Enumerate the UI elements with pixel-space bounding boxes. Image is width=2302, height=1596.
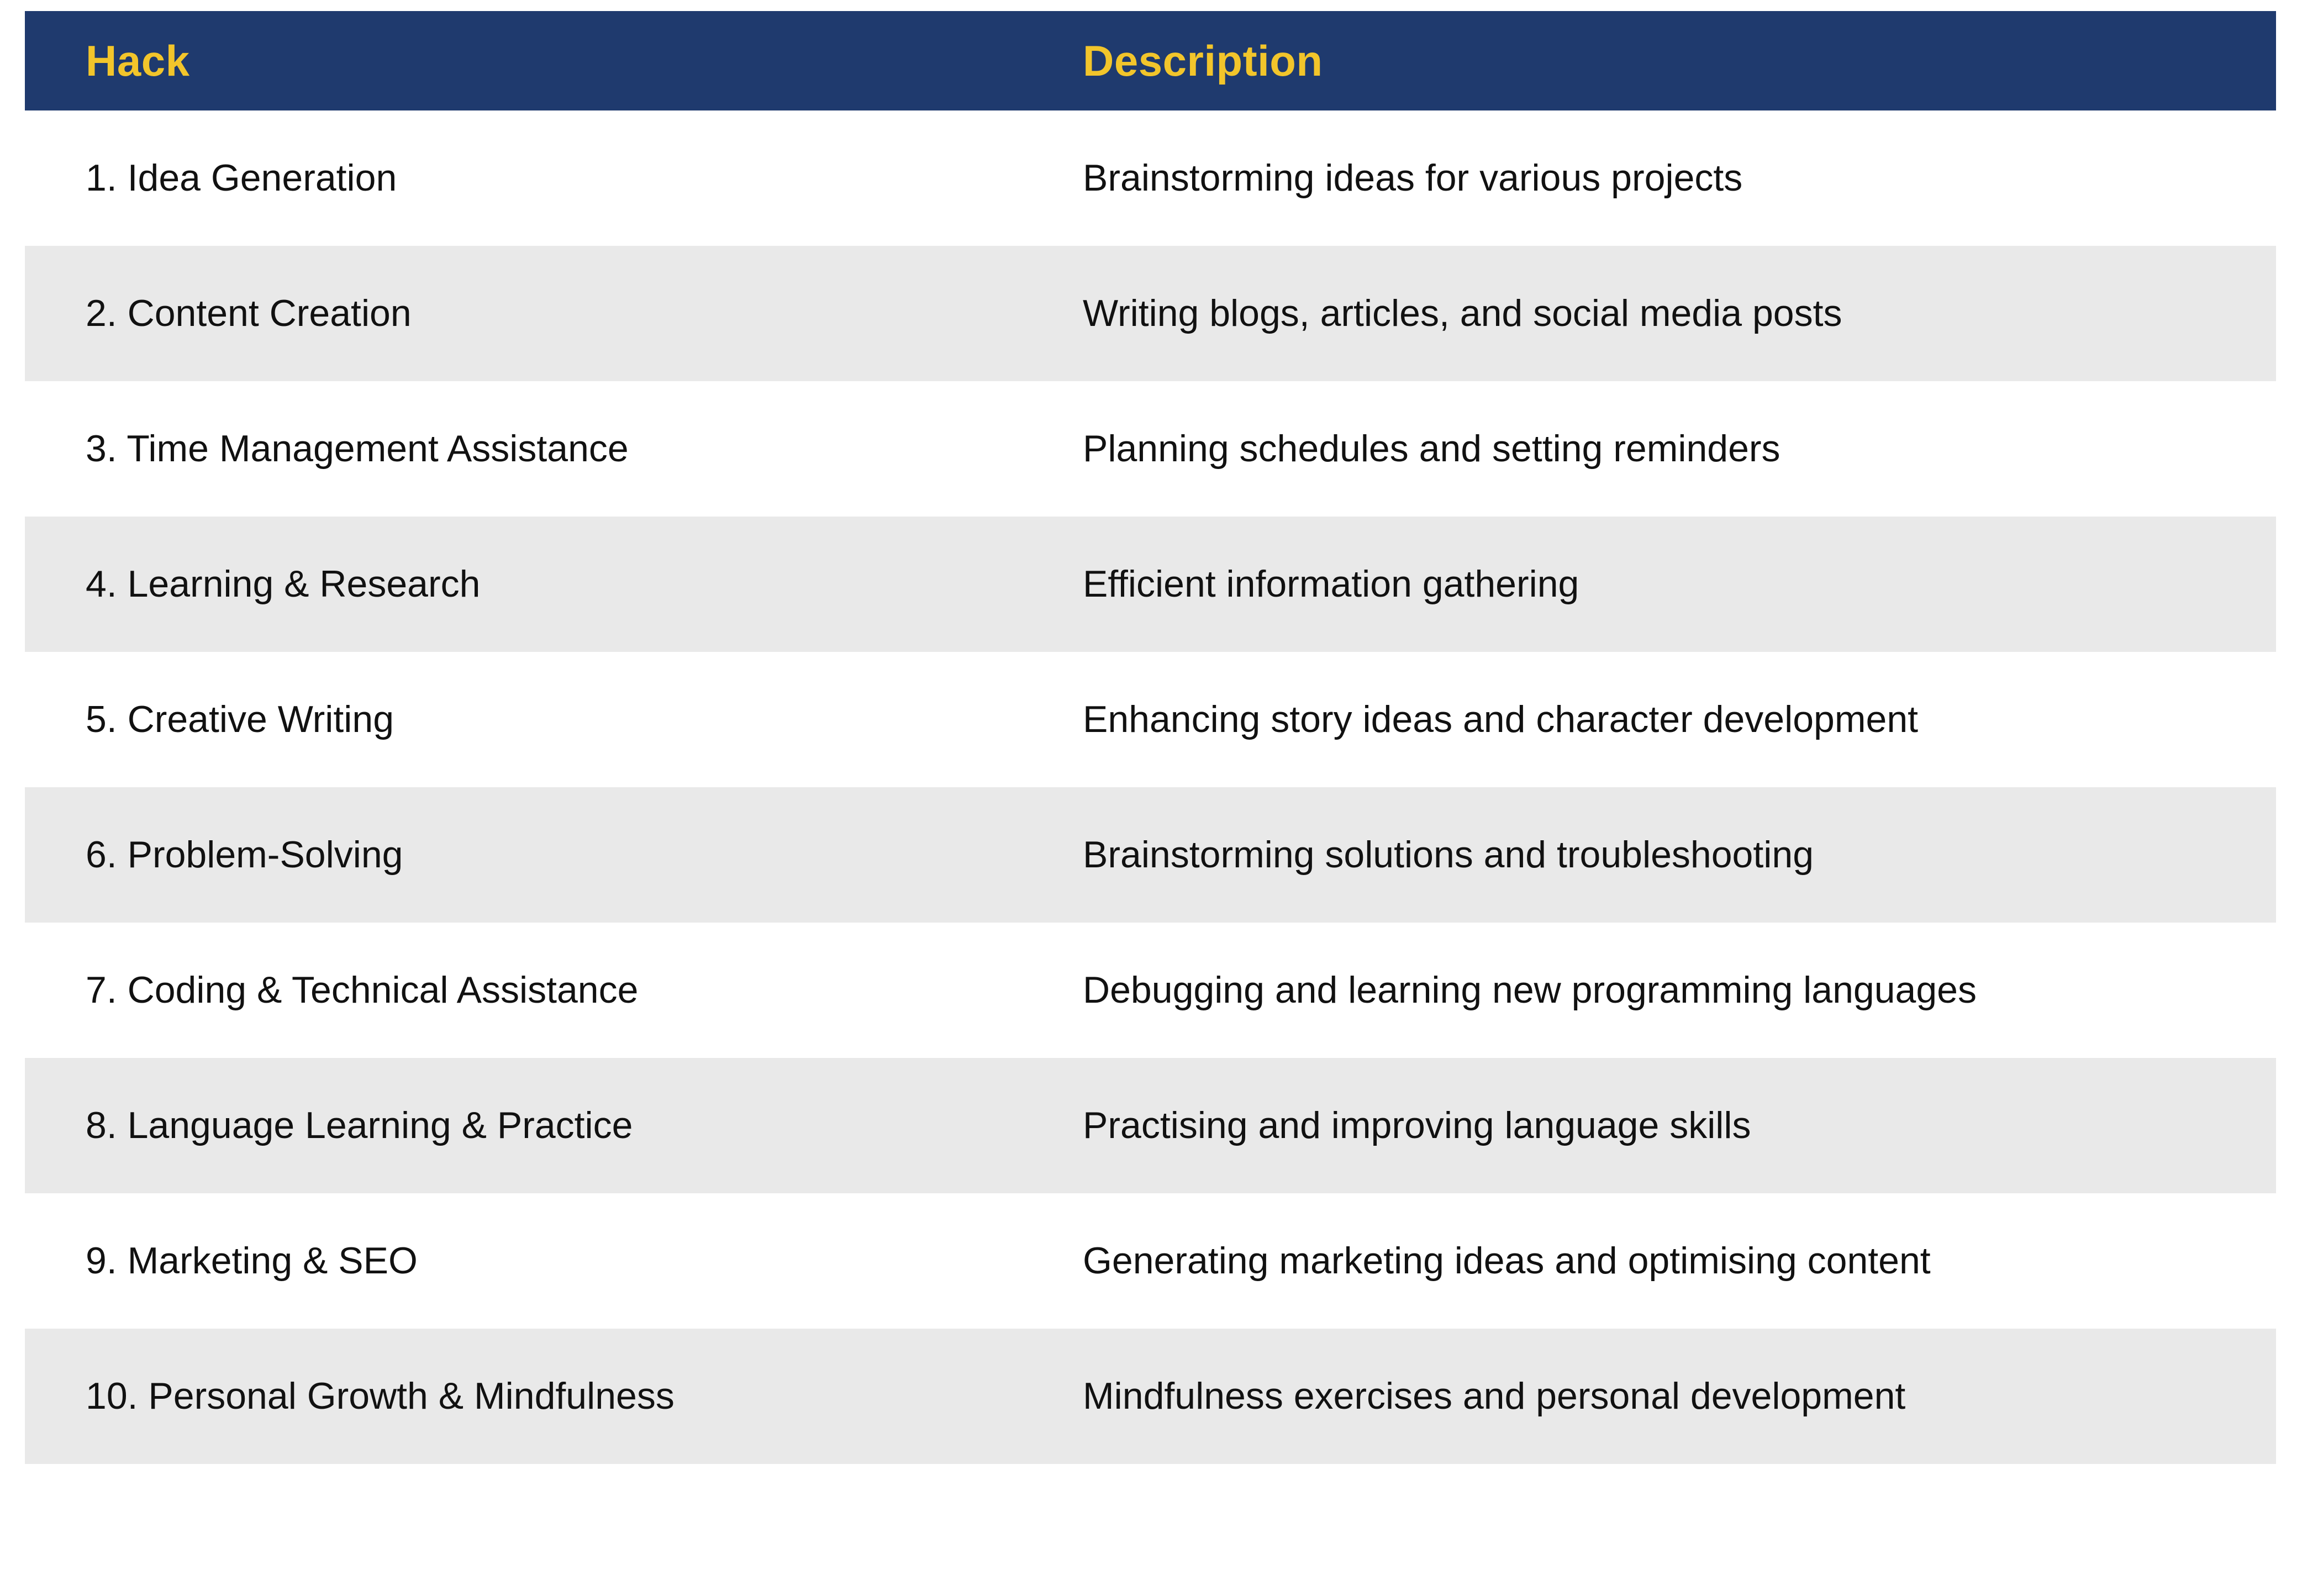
cell-hack: 3. Time Management Assistance bbox=[25, 381, 1019, 517]
cell-hack: 10. Personal Growth & Mindfulness bbox=[25, 1329, 1019, 1464]
table-row: 5. Creative Writing Enhancing story idea… bbox=[25, 652, 2276, 787]
table-row: 8. Language Learning & Practice Practisi… bbox=[25, 1058, 2276, 1193]
table-header-row: Hack Description bbox=[25, 11, 2276, 110]
hacks-table-container: Hack Description 1. Idea Generation Brai… bbox=[25, 11, 2276, 1464]
column-header-description: Description bbox=[1019, 11, 2276, 110]
cell-description: Writing blogs, articles, and social medi… bbox=[1019, 246, 2276, 381]
table-row: 2. Content Creation Writing blogs, artic… bbox=[25, 246, 2276, 381]
table-row: 1. Idea Generation Brainstorming ideas f… bbox=[25, 110, 2276, 246]
cell-description: Enhancing story ideas and character deve… bbox=[1019, 652, 2276, 787]
table-row: 3. Time Management Assistance Planning s… bbox=[25, 381, 2276, 517]
cell-description: Debugging and learning new programming l… bbox=[1019, 923, 2276, 1058]
table-row: 6. Problem-Solving Brainstorming solutio… bbox=[25, 787, 2276, 923]
table-row: 9. Marketing & SEO Generating marketing … bbox=[25, 1193, 2276, 1329]
cell-description: Efficient information gathering bbox=[1019, 517, 2276, 652]
hacks-table: Hack Description 1. Idea Generation Brai… bbox=[25, 11, 2276, 1464]
cell-hack: 8. Language Learning & Practice bbox=[25, 1058, 1019, 1193]
cell-hack: 4. Learning & Research bbox=[25, 517, 1019, 652]
cell-hack: 6. Problem-Solving bbox=[25, 787, 1019, 923]
cell-description: Practising and improving language skills bbox=[1019, 1058, 2276, 1193]
table-row: 7. Coding & Technical Assistance Debuggi… bbox=[25, 923, 2276, 1058]
table-header: Hack Description bbox=[25, 11, 2276, 110]
cell-hack: 7. Coding & Technical Assistance bbox=[25, 923, 1019, 1058]
cell-description: Generating marketing ideas and optimisin… bbox=[1019, 1193, 2276, 1329]
cell-hack: 9. Marketing & SEO bbox=[25, 1193, 1019, 1329]
cell-hack: 2. Content Creation bbox=[25, 246, 1019, 381]
cell-description: Mindfulness exercises and personal devel… bbox=[1019, 1329, 2276, 1464]
table-row: 4. Learning & Research Efficient informa… bbox=[25, 517, 2276, 652]
table-row: 10. Personal Growth & Mindfulness Mindfu… bbox=[25, 1329, 2276, 1464]
cell-description: Brainstorming solutions and troubleshoot… bbox=[1019, 787, 2276, 923]
cell-hack: 1. Idea Generation bbox=[25, 110, 1019, 246]
column-header-hack: Hack bbox=[25, 11, 1019, 110]
cell-description: Brainstorming ideas for various projects bbox=[1019, 110, 2276, 246]
cell-description: Planning schedules and setting reminders bbox=[1019, 381, 2276, 517]
table-body: 1. Idea Generation Brainstorming ideas f… bbox=[25, 110, 2276, 1464]
cell-hack: 5. Creative Writing bbox=[25, 652, 1019, 787]
